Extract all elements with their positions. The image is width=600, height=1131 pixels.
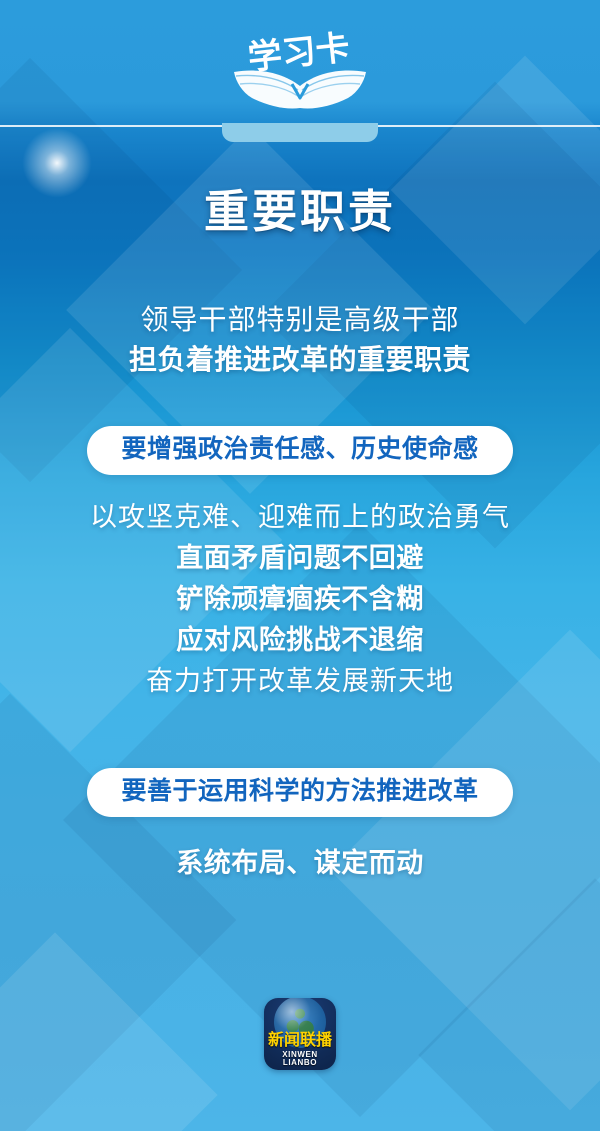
section-heading-pill: 要善于运用科学的方法推进改革 [87,768,512,817]
poster-content: 重要职责 领导干部特别是高级干部 担负着推进改革的重要职责 要增强政治责任感、历… [0,150,600,884]
brand-logo: 学习卡 [0,24,600,116]
section-block: 要善于运用科学的方法推进改革 系统布局、谋定而动 [0,768,600,884]
section-line: 应对风险挑战不退缩 [0,620,600,661]
poster-canvas: 学习卡 重要职责 领导干部特别是高级干部 担负着推进改革的重要职责 要增强政治责… [0,0,600,1131]
top-notch-tab [222,123,378,142]
footer-badge-wrap: 新闻联播 XINWEN LIANBO [0,998,600,1070]
open-book-icon: 学习卡 [200,24,400,116]
lead-block: 领导干部特别是高级干部 担负着推进改革的重要职责 [0,300,600,380]
section-heading-pill: 要增强政治责任感、历史使命感 [87,426,512,475]
section-lines: 以攻坚克难、迎难而上的政治勇气 直面矛盾问题不回避 铲除顽瘴痼疾不含糊 应对风险… [0,497,600,702]
section-lines: 系统布局、谋定而动 [0,843,600,884]
section-line: 奋力打开改革发展新天地 [0,661,600,702]
page-title: 重要职责 [0,189,600,234]
section-line: 以攻坚克难、迎难而上的政治勇气 [0,497,600,538]
xinwen-lianbo-badge: 新闻联播 XINWEN LIANBO [264,998,336,1070]
section-line: 系统布局、谋定而动 [0,843,600,884]
badge-title-cn: 新闻联播 [264,1033,336,1049]
section-block: 要增强政治责任感、历史使命感 以攻坚克难、迎难而上的政治勇气 直面矛盾问题不回避… [0,426,600,702]
lead-line: 领导干部特别是高级干部 [0,300,600,340]
badge-title-en: XINWEN LIANBO [264,1051,336,1067]
brand-logo-text: 学习卡 [246,28,352,78]
book-pages [234,71,366,109]
lead-line: 担负着推进改革的重要职责 [0,340,600,380]
section-line: 铲除顽瘴痼疾不含糊 [0,579,600,620]
section-line: 直面矛盾问题不回避 [0,538,600,579]
